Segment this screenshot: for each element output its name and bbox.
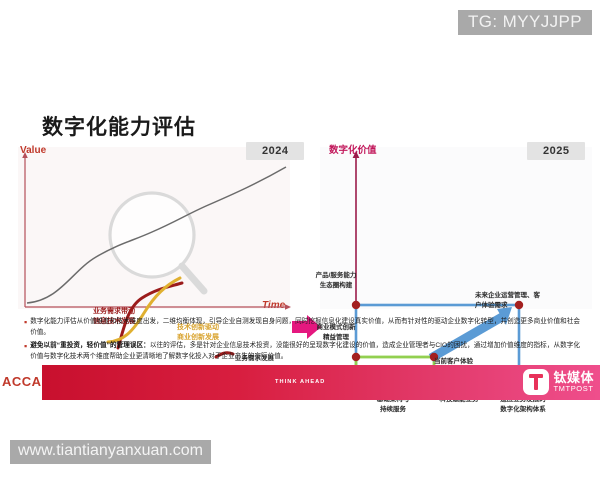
tmtpost-wordmark: 钛媒体 TMTPOST — [553, 371, 594, 393]
right-label-adaptive-architecture-line2: 数字化架构体系 — [490, 405, 556, 415]
right-label-infrastructure-line2: 持续服务 — [362, 405, 424, 415]
acca-logo: ACCA — [2, 374, 42, 389]
telegram-watermark: TG: MYYJJPP — [458, 10, 592, 35]
bullet-bold-prefix: 避免以前“重投资，轻价值”的管理误区： — [30, 342, 150, 349]
site-watermark: www.tiantianyanxuan.com — [10, 440, 211, 464]
bullet-text: 数字化能力评估从价值维度和技术维度出发，二维均衡体现，引导企业自测发现自身问题，… — [30, 317, 580, 338]
bullet-item: ▪ 避免以前“重投资，轻价值”的管理误区：以往的评估，多是针对企业信息技术投资，… — [24, 341, 580, 362]
footer-tagline: THINK AHEAD — [275, 379, 325, 385]
right-label-future-needs-line1: 未来企业运营管理、客 — [475, 291, 549, 301]
bullet-dot-icon: ▪ — [24, 341, 27, 362]
tmtpost-brand-en: TMTPOST — [553, 385, 594, 393]
bullet-dot-icon: ▪ — [24, 317, 27, 338]
bullet-text: 避免以前“重投资，轻价值”的管理误区：以往的评估，多是针对企业信息技术投资，没能… — [30, 341, 580, 362]
tmtpost-brand-cn: 钛媒体 — [553, 371, 594, 385]
tmtpost-mark-icon — [523, 369, 549, 395]
right-label-future-needs-line2: 户体验需求 — [475, 301, 549, 311]
bullet-list: ▪ 数字化能力评估从价值维度和技术维度出发，二维均衡体现，引导企业自测发现自身问… — [24, 317, 580, 366]
bullet-item: ▪ 数字化能力评估从价值维度和技术维度出发，二维均衡体现，引导企业自测发现自身问… — [24, 317, 580, 338]
right-label-product-service-line1: 产品/服务能力 — [305, 271, 367, 281]
right-label-product-service-line2: 生态圈构建 — [305, 281, 367, 291]
right-label-future-needs: 未来企业运营管理、客 户体验需求 — [475, 291, 549, 311]
slide-canvas: 数字化能力评估 2024 Value Time 业务需求带动 信息技术发展 技术… — [0, 95, 600, 415]
right-label-product-service: 产品/服务能力 生态圈构建 — [305, 271, 367, 291]
tmtpost-logo: 钛媒体 TMTPOST — [523, 369, 594, 395]
slide-footer: ACCA THINK AHEAD 钛媒体 TMTPOST — [0, 365, 600, 400]
